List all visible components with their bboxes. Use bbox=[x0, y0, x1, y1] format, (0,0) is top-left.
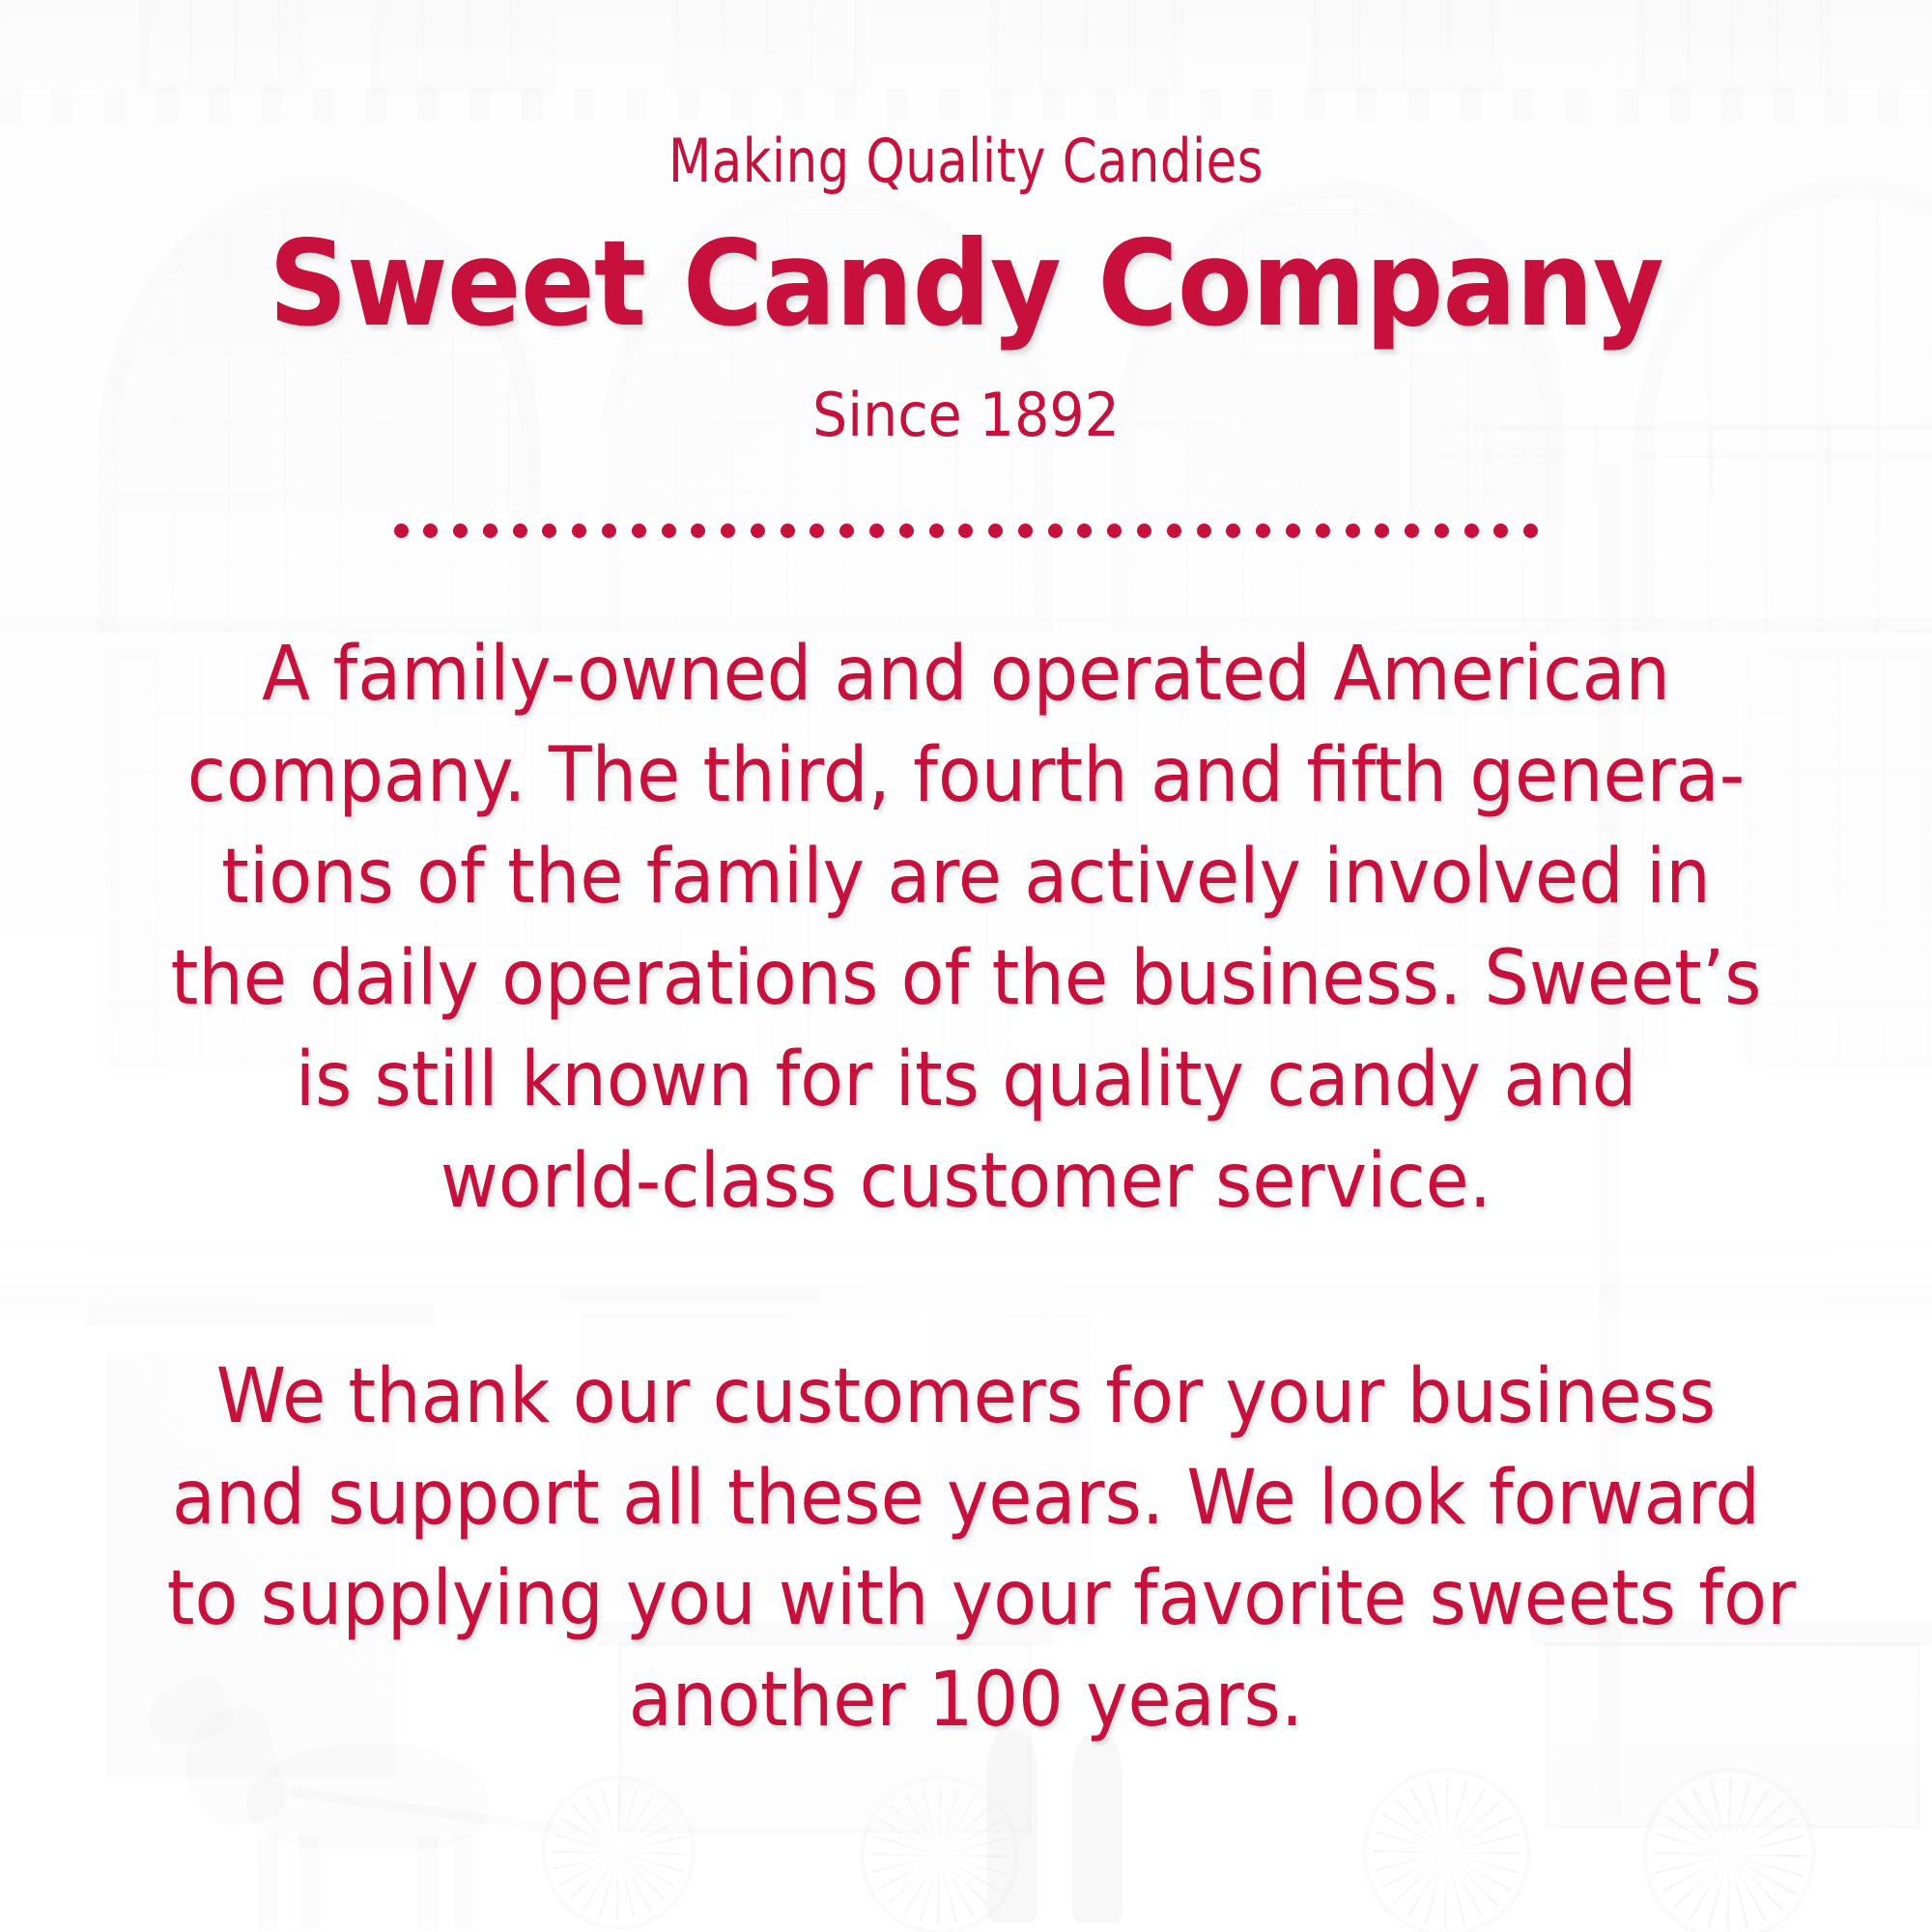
divider-dot bbox=[602, 524, 616, 538]
paragraph-2-line: another 100 years. bbox=[167, 1650, 1765, 1751]
divider-dot bbox=[1316, 524, 1330, 538]
paragraph-1: A family-owned and operated American com… bbox=[167, 541, 1765, 1232]
paragraph-1-line: company. The third, fourth and fifth gen… bbox=[167, 725, 1765, 827]
divider-dot bbox=[1256, 524, 1270, 538]
divider-dot bbox=[1464, 524, 1479, 538]
divider-dot bbox=[1346, 524, 1360, 538]
poster-content: Making Quality Candies Sweet Candy Compa… bbox=[0, 0, 1932, 1932]
divider-dot bbox=[721, 524, 735, 538]
divider-dot bbox=[839, 524, 854, 538]
divider-dot bbox=[1167, 524, 1181, 538]
divider-dot bbox=[929, 524, 944, 538]
divider-dot bbox=[958, 524, 973, 538]
divider-dot bbox=[1197, 524, 1211, 538]
divider-dot bbox=[781, 524, 795, 538]
divider-dot bbox=[1048, 524, 1063, 538]
tagline: Making Quality Candies bbox=[166, 0, 1766, 192]
paragraph-2-line: We thank our customers for your business bbox=[167, 1347, 1765, 1448]
paragraph-2-line: to supplying you with your favorite swee… bbox=[167, 1548, 1765, 1650]
paragraph-1-line: is still known for its quality candy and bbox=[167, 1030, 1765, 1131]
divider-dot bbox=[751, 524, 765, 538]
divider-dot bbox=[1493, 524, 1508, 538]
divider-dot bbox=[1286, 524, 1300, 538]
divider-dot bbox=[513, 524, 527, 538]
divider-dot bbox=[988, 524, 1003, 538]
divider-dot bbox=[1018, 524, 1033, 538]
divider-dot bbox=[632, 524, 646, 538]
divider-dot bbox=[572, 524, 586, 538]
divider-dot bbox=[1405, 524, 1419, 538]
divider-dot bbox=[1375, 524, 1389, 538]
body-copy: A family-owned and operated American com… bbox=[116, 541, 1816, 1751]
divider-dot bbox=[1435, 524, 1449, 538]
paragraph-1-line: the daily operations of the business. Sw… bbox=[167, 928, 1765, 1030]
paragraph-1-line: tions of the family are actively involve… bbox=[167, 827, 1765, 928]
divider-dot bbox=[423, 524, 438, 538]
divider-dot bbox=[483, 524, 497, 538]
divider-dot bbox=[810, 524, 824, 538]
divider-dot bbox=[1107, 524, 1122, 538]
divider-dot bbox=[869, 524, 884, 538]
divider-dot bbox=[542, 524, 556, 538]
divider-dot bbox=[1226, 524, 1240, 538]
established-year: Since 1892 bbox=[166, 343, 1766, 446]
divider-dot bbox=[1077, 524, 1092, 538]
dotted-divider bbox=[394, 520, 1539, 541]
paragraph-1-line: A family-owned and operated American bbox=[167, 624, 1765, 725]
divider-dot bbox=[1523, 524, 1538, 538]
brand-title: Sweet Candy Company bbox=[157, 192, 1775, 343]
divider-dot bbox=[691, 524, 705, 538]
paragraph-2-line: and support all these years. We look for… bbox=[167, 1448, 1765, 1549]
divider-dot bbox=[1137, 524, 1151, 538]
divider-dot bbox=[899, 524, 914, 538]
paragraph-1-line: world-class customer service. bbox=[167, 1131, 1765, 1233]
poster-canvas: Making Quality Candies Sweet Candy Compa… bbox=[0, 0, 1932, 1932]
divider-dot bbox=[662, 524, 676, 538]
divider-dot bbox=[394, 524, 409, 538]
divider-dot bbox=[453, 524, 468, 538]
paragraph-2: We thank our customers for your business… bbox=[167, 1233, 1765, 1752]
